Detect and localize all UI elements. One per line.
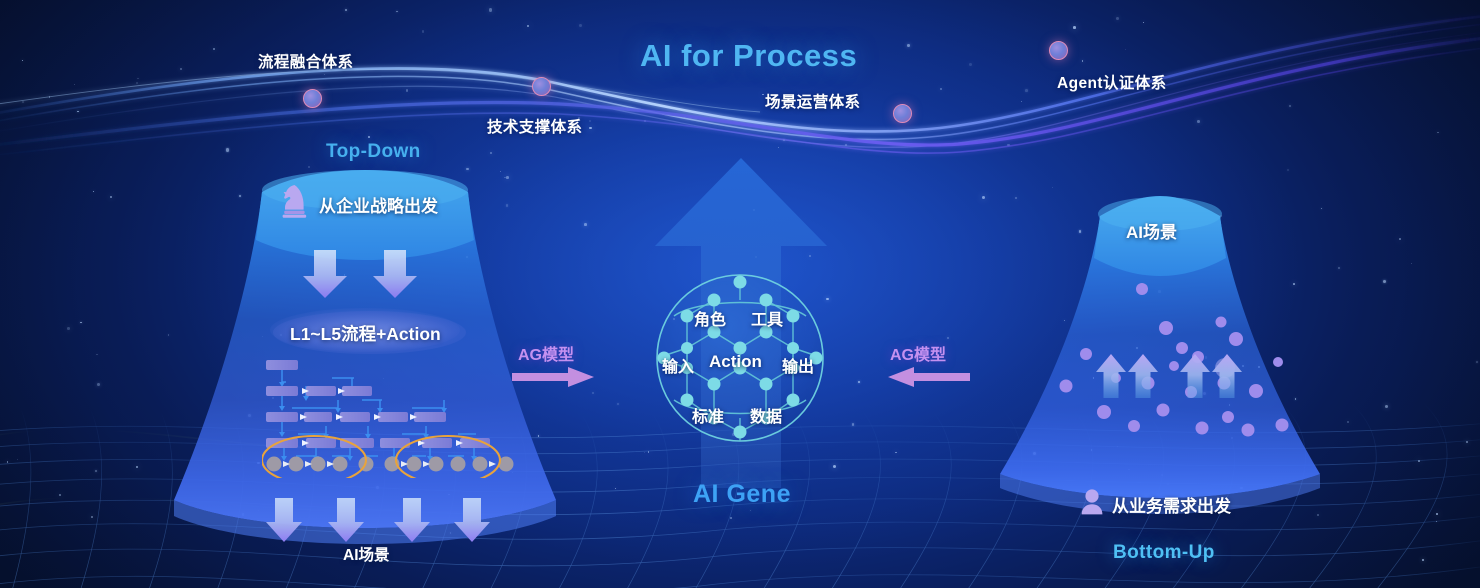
sphere-cell-data: 数据 bbox=[750, 403, 782, 427]
connector-label-right: AG模型 bbox=[890, 341, 946, 365]
arrow-left-icon bbox=[884, 366, 970, 388]
user-icon bbox=[1081, 489, 1103, 515]
right-funnel-foot-label: 从业务需求出发 bbox=[1112, 492, 1231, 517]
process-tree-diagram bbox=[262, 356, 520, 478]
curve-node-label-1: 技术支撑体系 bbox=[487, 115, 582, 137]
left-funnel-foot-label: AI场景 bbox=[343, 543, 390, 565]
curve-node-dot-1[interactable] bbox=[532, 77, 551, 96]
curve-node-label-2: 场景运营体系 bbox=[765, 90, 860, 112]
right-funnel-arrows bbox=[1090, 354, 1250, 398]
curve-node-label-0: 流程融合体系 bbox=[258, 50, 353, 72]
left-funnel-bottom-arrows bbox=[256, 498, 506, 546]
curve-node-label-3: Agent认证体系 bbox=[1057, 71, 1167, 93]
chess-knight-icon bbox=[281, 184, 309, 218]
curve-node-dot-0[interactable] bbox=[303, 89, 322, 108]
left-funnel-head-label: 从企业战略出发 bbox=[319, 192, 438, 217]
right-funnel-head-label: AI场景 bbox=[1126, 218, 1177, 243]
sphere-cell-role: 角色 bbox=[694, 306, 726, 330]
sphere-cell-standard: 标准 bbox=[692, 403, 724, 427]
sphere-cell-input: 输入 bbox=[662, 353, 694, 377]
center-title: AI Gene bbox=[693, 480, 791, 509]
connector-label-left: AG模型 bbox=[518, 341, 574, 365]
infographic-canvas: AI for Process 流程融合体系 技术支撑体系 场景运营体系 Agen… bbox=[0, 0, 1480, 588]
right-funnel-caption: Bottom-Up bbox=[1113, 542, 1215, 564]
left-funnel-pill-label: L1~L5流程+Action bbox=[290, 321, 441, 346]
curve-node-dot-2[interactable] bbox=[893, 104, 912, 123]
sphere-cell-action: Action bbox=[709, 352, 762, 372]
curve-node-dot-3[interactable] bbox=[1049, 41, 1068, 60]
left-funnel-top-arrows bbox=[296, 250, 426, 300]
page-title: AI for Process bbox=[640, 38, 857, 74]
left-funnel-caption: Top-Down bbox=[326, 141, 421, 163]
sphere-cell-output: 输出 bbox=[782, 353, 814, 377]
sphere-cell-tool: 工具 bbox=[751, 306, 783, 330]
arrow-right-icon bbox=[512, 366, 598, 388]
